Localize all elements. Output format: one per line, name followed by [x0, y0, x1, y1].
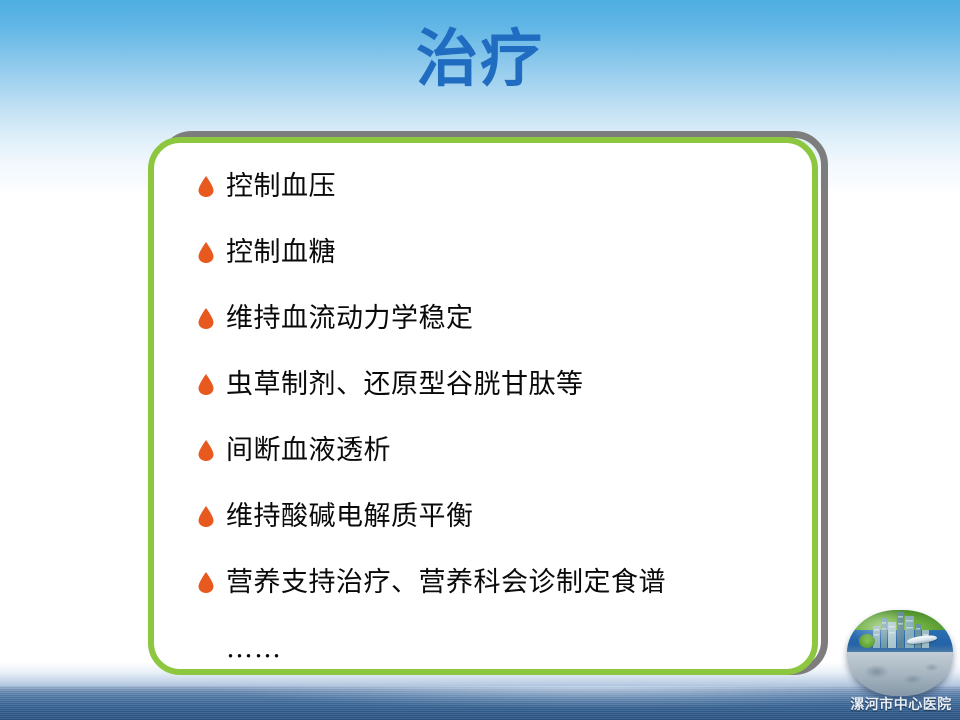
- content-box: 控制血压 控制血糖 维持血流动力学稳定: [148, 137, 818, 675]
- slide-title: 治疗: [0, 26, 960, 91]
- hospital-logo: 漯河市中心医院: [845, 588, 957, 720]
- water-drop-icon: [198, 572, 214, 593]
- ellipsis-label: ……: [226, 629, 282, 669]
- list-item[interactable]: 控制血压: [154, 167, 812, 233]
- list-item-label: 控制血糖: [226, 233, 336, 273]
- slide-canvas: 治疗 控制血压 控制血糖: [0, 0, 960, 720]
- list-item-label: 虫草制剂、还原型谷胱甘肽等: [226, 365, 584, 405]
- globe-gloss: [847, 610, 953, 696]
- water-drop-icon: [198, 176, 214, 197]
- list-item[interactable]: 维持酸碱电解质平衡: [154, 497, 812, 563]
- list-item-label: 控制血压: [226, 167, 336, 207]
- water-drop-icon: [198, 308, 214, 329]
- list-item-label: 维持血流动力学稳定: [226, 299, 474, 339]
- water-drop-icon: [198, 506, 214, 527]
- water-sheen: [0, 686, 960, 720]
- list-item[interactable]: 维持血流动力学稳定: [154, 299, 812, 365]
- globe-city-logo-icon: [847, 610, 953, 696]
- water-drop-icon: [198, 374, 214, 395]
- bullet-list: 控制血压 控制血糖 维持血流动力学稳定: [154, 143, 812, 669]
- list-item[interactable]: 虫草制剂、还原型谷胱甘肽等: [154, 365, 812, 431]
- list-item-label: 营养支持治疗、营养科会诊制定食谱: [226, 563, 666, 603]
- list-item[interactable]: 间断血液透析: [154, 431, 812, 497]
- water-drop-icon: [198, 440, 214, 461]
- list-item-label: 间断血液透析: [226, 431, 391, 471]
- list-item-continuation[interactable]: ……: [154, 629, 812, 689]
- list-item[interactable]: 控制血糖: [154, 233, 812, 299]
- list-item-label: 维持酸碱电解质平衡: [226, 497, 474, 537]
- hospital-name-label: 漯河市中心医院: [845, 694, 957, 714]
- list-item[interactable]: 营养支持治疗、营养科会诊制定食谱: [154, 563, 812, 629]
- water-drop-icon: [198, 242, 214, 263]
